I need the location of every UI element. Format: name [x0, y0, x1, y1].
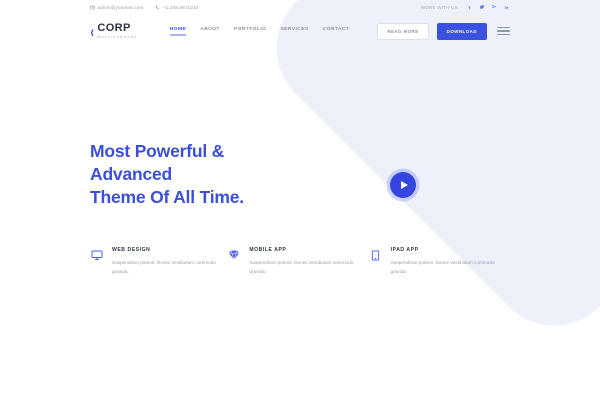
hamburger-bar [497, 27, 510, 29]
logo[interactable]: ‹ CORP MULTIPURPOSE [90, 23, 138, 39]
facebook-icon[interactable] [466, 4, 473, 11]
feature-title: WEB DESIGN [112, 247, 216, 253]
twitter-icon[interactable] [478, 4, 485, 11]
work-with-us-label[interactable]: WORK WITH US [421, 5, 458, 10]
play-icon [401, 181, 408, 189]
tablet-icon [369, 248, 383, 262]
feature-card-mobile-app[interactable]: MOBILE APP Suspendisse potenti. Donec ve… [227, 247, 368, 275]
topbar-phone[interactable]: +1.208.5671234 [155, 5, 198, 10]
topbar-phone-text: +1.208.5671234 [163, 5, 198, 10]
logo-subtitle: MULTIPURPOSE [97, 36, 137, 39]
header-actions: READ MORE DOWNLOAD [377, 23, 510, 40]
linkedin-icon[interactable] [503, 4, 510, 11]
feature-body: MOBILE APP Suspendisse potenti. Donec ve… [249, 247, 353, 275]
topbar-right: WORK WITH US [421, 4, 510, 11]
nav-item-about[interactable]: ABOUT [200, 27, 220, 36]
feature-title: MOBILE APP [249, 247, 353, 253]
site-header: ‹ CORP MULTIPURPOSE HOME ABOUT PORTFOLIO… [0, 14, 600, 48]
page-title: Most Powerful & Advanced Theme Of All Ti… [90, 140, 305, 209]
topbar-email[interactable]: admin@yoursite.com [90, 5, 143, 10]
logo-text: CORP MULTIPURPOSE [97, 23, 137, 39]
hamburger-bar [497, 30, 510, 32]
nav-item-home[interactable]: HOME [170, 27, 186, 36]
diamond-icon [227, 248, 241, 262]
nav-item-contact[interactable]: CONTACT [323, 27, 350, 36]
feature-description: Suspendisse potenti. Donec vestibulum co… [112, 259, 216, 275]
download-button[interactable]: DOWNLOAD [437, 23, 487, 40]
hamburger-menu-icon[interactable] [497, 25, 510, 38]
logo-chevron-icon: ‹ [90, 23, 94, 39]
main-navigation: HOME ABOUT PORTFOLIO SERVICES CONTACT [170, 27, 350, 36]
hero-title-line-1: Most Powerful & Advanced [90, 141, 224, 184]
read-more-button[interactable]: READ MORE [377, 23, 428, 40]
google-plus-icon[interactable] [491, 4, 498, 11]
feature-body: IPAD APP Suspendisse potenti. Donec vest… [391, 247, 495, 275]
feature-title: IPAD APP [391, 247, 495, 253]
feature-description: Suspendisse potenti. Donec vestibulum co… [391, 259, 495, 275]
feature-card-ipad-app[interactable]: IPAD APP Suspendisse potenti. Donec vest… [369, 247, 510, 275]
topbar-email-text: admin@yoursite.com [98, 5, 144, 10]
feature-card-web-design[interactable]: WEB DESIGN Suspendisse potenti. Donec ve… [90, 247, 231, 275]
topbar: admin@yoursite.com +1.208.5671234 WORK W… [0, 0, 600, 14]
logo-title: CORP [97, 23, 137, 34]
features-section: WEB DESIGN Suspendisse potenti. Donec ve… [0, 209, 600, 275]
hamburger-bar [497, 34, 510, 36]
nav-item-services[interactable]: SERVICES [280, 27, 308, 36]
envelope-icon [90, 5, 95, 10]
phone-icon [155, 5, 160, 10]
monitor-icon [90, 248, 104, 262]
feature-description: Suspendisse potenti. Donec vestibulum co… [249, 259, 353, 275]
nav-item-portfolio[interactable]: PORTFOLIO [234, 27, 267, 36]
hero-section: Most Powerful & Advanced Theme Of All Ti… [0, 48, 600, 209]
play-video-button[interactable] [390, 172, 416, 198]
hero-title-line-2: Theme Of All Time. [90, 187, 244, 207]
feature-body: WEB DESIGN Suspendisse potenti. Donec ve… [112, 247, 216, 275]
